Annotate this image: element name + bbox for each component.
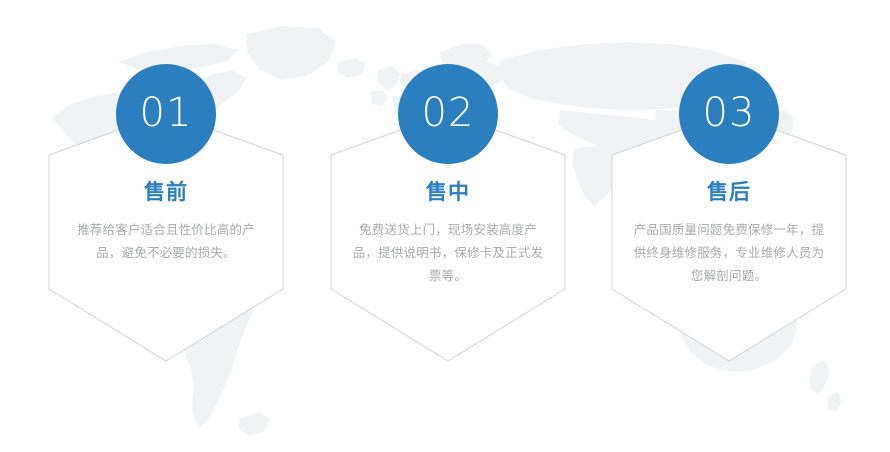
step-number-label: 03 (703, 93, 756, 133)
hexagon-title-02: 售中 (331, 180, 565, 205)
step-number-label: 01 (140, 93, 193, 133)
hexagon-card-03[interactable]: 03 售后 产品国质量问题免费保修一年，提供终身维修服务，专业维修人员为您解剖问… (612, 0, 846, 452)
step-number-circle-01[interactable]: 01 (116, 64, 216, 164)
hexagon-content-02: 售中 免费送货上门，现场安装高度产品，提供说明书，保修卡及正式发票等。 (331, 180, 565, 289)
hexagon-title-01: 售前 (49, 180, 283, 205)
hexagon-description-01: 推荐给客户适合且性价比高的产品，避免不必要的损失。 (68, 219, 264, 265)
hexagon-description-03: 产品国质量问题免费保修一年，提供终身维修服务，专业维修人员为您解剖问题。 (631, 219, 827, 288)
step-number-circle-02[interactable]: 02 (398, 64, 498, 164)
hexagon-content-03: 售后 产品国质量问题免费保修一年，提供终身维修服务，专业维修人员为您解剖问题。 (612, 180, 846, 289)
hexagon-card-01[interactable]: 01 售前 推荐给客户适合且性价比高的产品，避免不必要的损失。 (49, 0, 283, 452)
hexagon-description-02: 免费送货上门，现场安装高度产品，提供说明书，保修卡及正式发票等。 (350, 219, 546, 288)
hexagon-card-02[interactable]: 02 售中 免费送货上门，现场安装高度产品，提供说明书，保修卡及正式发票等。 (331, 0, 565, 452)
hexagon-title-03: 售后 (612, 180, 846, 205)
hexagon-content-01: 售前 推荐给客户适合且性价比高的产品，避免不必要的损失。 (49, 180, 283, 265)
step-number-label: 02 (422, 93, 475, 133)
slide-canvas: 01 售前 推荐给客户适合且性价比高的产品，避免不必要的损失。 02 售中 免费… (0, 0, 890, 452)
step-number-circle-03[interactable]: 03 (679, 64, 779, 164)
hexagon-card-list: 01 售前 推荐给客户适合且性价比高的产品，避免不必要的损失。 02 售中 免费… (0, 0, 890, 452)
